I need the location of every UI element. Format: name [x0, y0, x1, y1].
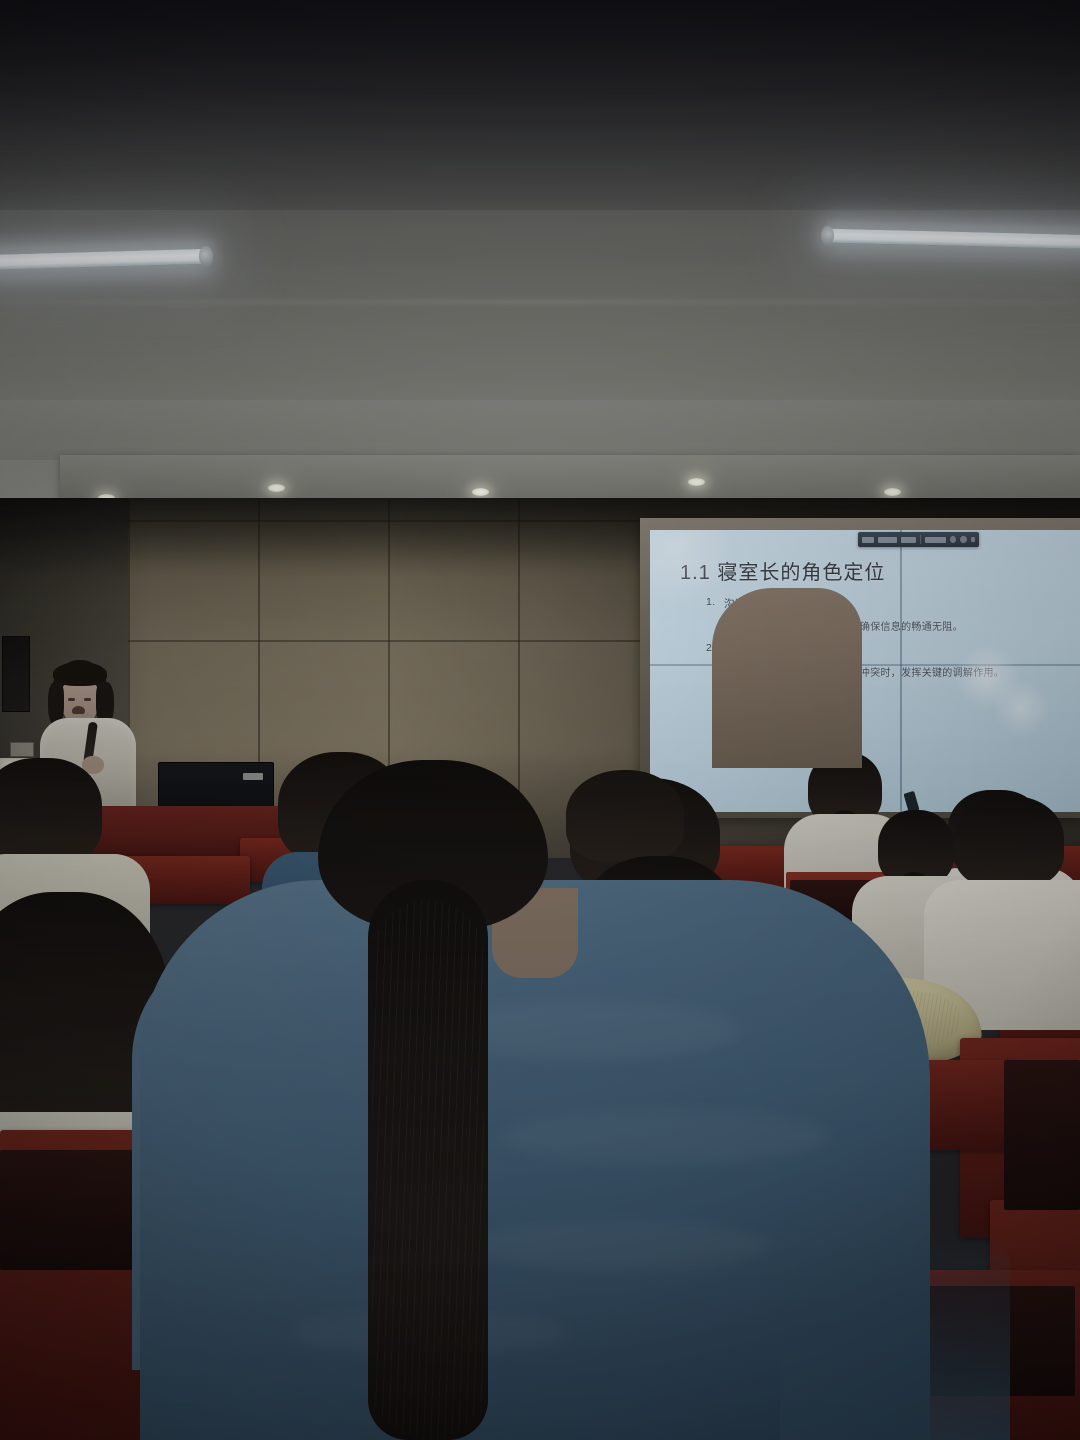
lecture-hall-photo: 1.1 寝室长的角色定位 1. 沟通者 充当寝室内部和外部的桥梁，确保信息的畅通…	[0, 0, 1080, 1440]
toolbar-chip[interactable]	[901, 537, 915, 543]
downlight-4-icon	[688, 478, 705, 486]
gear-icon[interactable]	[950, 536, 956, 543]
toolbar-annotate-label[interactable]	[925, 537, 946, 543]
ceiling-soffit	[0, 0, 1080, 210]
toolbar-chip[interactable]	[862, 537, 874, 543]
slide-bullet-1-number: 1.	[706, 596, 716, 608]
foreground-forearm	[712, 588, 862, 768]
ceiling-drop-panel	[60, 455, 1080, 503]
toolbar-divider	[920, 535, 921, 544]
downlight-5-icon	[884, 488, 901, 496]
downlight-2-icon	[268, 484, 285, 492]
downlight-3-icon	[472, 488, 489, 496]
ceiling-step	[0, 400, 1080, 460]
presentation-toolbar[interactable]	[858, 532, 979, 547]
seat-cushion	[1004, 1060, 1080, 1210]
audience-member	[940, 796, 1080, 966]
chevron-right-icon[interactable]	[971, 537, 975, 542]
toolbar-present-label[interactable]	[878, 537, 898, 543]
foreground-student	[120, 760, 950, 1440]
slide-title: 1.1 寝室长的角色定位	[680, 556, 885, 585]
pen-icon[interactable]	[960, 536, 966, 543]
ceiling-beam	[0, 300, 1080, 304]
foreground-arm	[780, 1230, 1010, 1440]
hair-strands	[372, 900, 484, 1440]
